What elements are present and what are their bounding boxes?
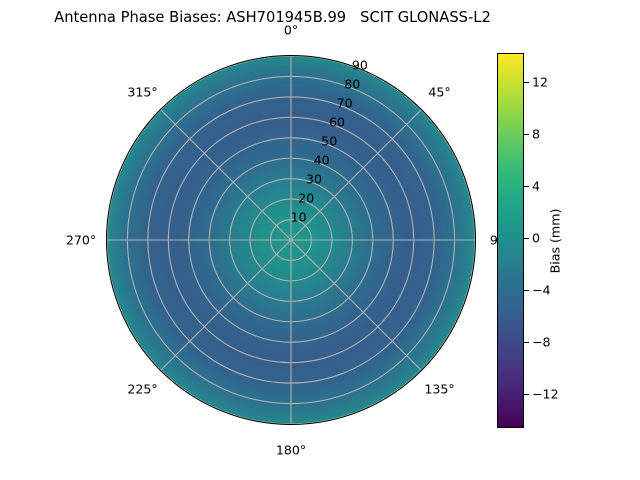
theta-tick-label-180: 180°	[276, 443, 306, 458]
theta-tick-label-135: 135°	[424, 381, 454, 396]
colorbar-tick-label: −4	[532, 282, 551, 297]
colorbar-tick-label: 12	[532, 74, 548, 89]
colorbar-tick-mark	[524, 82, 529, 83]
theta-tick-label-0: 0°	[284, 23, 298, 38]
radial-tick-label-50: 50	[321, 134, 337, 149]
colorbar-gradient	[497, 53, 524, 428]
radial-tick-label-40: 40	[314, 153, 330, 168]
colorbar-tick-label: 0	[532, 230, 540, 245]
theta-tick-label-270: 270°	[66, 233, 96, 248]
colorbar-tick-label: 8	[532, 126, 540, 141]
radial-tick-label-70: 70	[337, 96, 353, 111]
colorbar-axis-label: Bias (mm)	[548, 209, 563, 274]
radial-tick-label-90: 90	[352, 58, 368, 73]
colorbar-tick-mark	[524, 186, 529, 187]
colorbar-tick-label: 4	[532, 178, 540, 193]
colorbar-tick-label: −8	[532, 335, 551, 350]
polar-plot[interactable]	[106, 55, 476, 425]
colorbar-tick-mark	[524, 238, 529, 239]
theta-tick-label-45: 45°	[428, 84, 450, 99]
colorbar-tick-label: −12	[532, 387, 559, 402]
radial-tick-label-20: 20	[298, 191, 314, 206]
polar-data-clip	[106, 55, 476, 425]
theta-tick-label-315: 315°	[127, 84, 157, 99]
radial-tick-label-80: 80	[344, 77, 360, 92]
page-title: Antenna Phase Biases: ASH701945B.99 SCIT…	[0, 9, 545, 26]
radial-tick-label-10: 10	[291, 210, 307, 225]
polar-heatmap-surface	[106, 55, 476, 425]
colorbar-tick-mark	[524, 342, 529, 343]
figure-canvas: Antenna Phase Biases: ASH701945B.99 SCIT…	[0, 0, 640, 480]
radial-tick-label-30: 30	[306, 172, 322, 187]
colorbar-tick-mark	[524, 134, 529, 135]
colorbar[interactable]: 12840−4−8−12	[497, 53, 524, 428]
colorbar-tick-mark	[524, 290, 529, 291]
colorbar-tick-mark	[524, 394, 529, 395]
radial-tick-label-60: 60	[329, 115, 345, 130]
theta-tick-label-225: 225°	[127, 381, 157, 396]
